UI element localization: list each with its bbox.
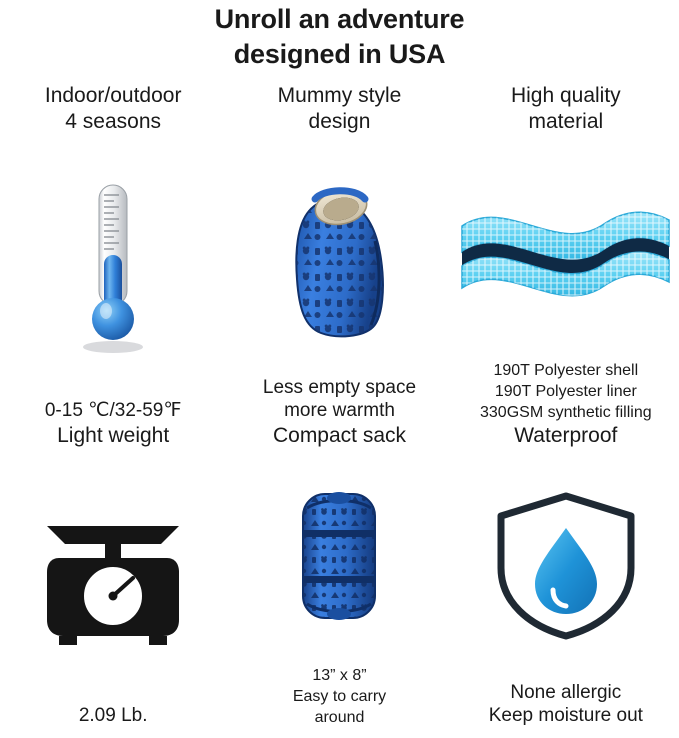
feature-caption: None allergic Keep moisture out (489, 681, 643, 729)
fabric-swatch-icon (458, 190, 673, 305)
feature-illustration (0, 140, 226, 393)
feature-title: Mummy style design (278, 83, 402, 134)
feature-cell-light-weight: Light weight (0, 423, 226, 728)
thermometer-icon (63, 179, 163, 354)
feature-illustration (226, 140, 452, 369)
feature-caption: 13” x 8” Easy to carry around (293, 665, 386, 728)
headline-line-1: Unroll an adventure (0, 2, 679, 37)
kitchen-scale-icon (33, 502, 193, 652)
feature-illustration (226, 455, 452, 659)
sleeping-bag-icon (279, 167, 399, 342)
feature-title: Indoor/outdoor 4 seasons (45, 83, 182, 134)
feature-illustration (453, 455, 679, 675)
feature-title: High quality material (511, 83, 621, 134)
feature-caption: 2.09 Lb. (79, 704, 148, 728)
product-feature-infographic: Unroll an adventure designed in USA Indo… (0, 0, 679, 738)
headline-line-2: designed in USA (0, 37, 679, 72)
feature-title: Light weight (57, 423, 169, 449)
page-title: Unroll an adventure designed in USA (0, 0, 679, 71)
feature-title: Compact sack (273, 423, 406, 449)
feature-cell-compact-sack: Compact sack (226, 423, 452, 728)
feature-caption: Less empty space more warmth (263, 376, 416, 424)
feature-title: Waterproof (514, 423, 617, 449)
feature-illustration (0, 455, 226, 699)
shield-water-drop-icon (491, 490, 641, 640)
feature-grid: Indoor/outdoor 4 seasons (0, 83, 679, 728)
feature-cell-waterproof: Waterproof (453, 423, 679, 728)
feature-cell-mummy-design: Mummy style design (226, 83, 452, 423)
feature-illustration (453, 140, 679, 353)
feature-cell-temperature-rating: Indoor/outdoor 4 seasons (0, 83, 226, 423)
feature-caption: 190T Polyester shell 190T Polyester line… (480, 360, 652, 423)
feature-caption: 0-15 ℃/32-59℉ (45, 399, 182, 423)
stuff-sack-icon (279, 482, 399, 632)
feature-cell-material-quality: High quality material (453, 83, 679, 423)
